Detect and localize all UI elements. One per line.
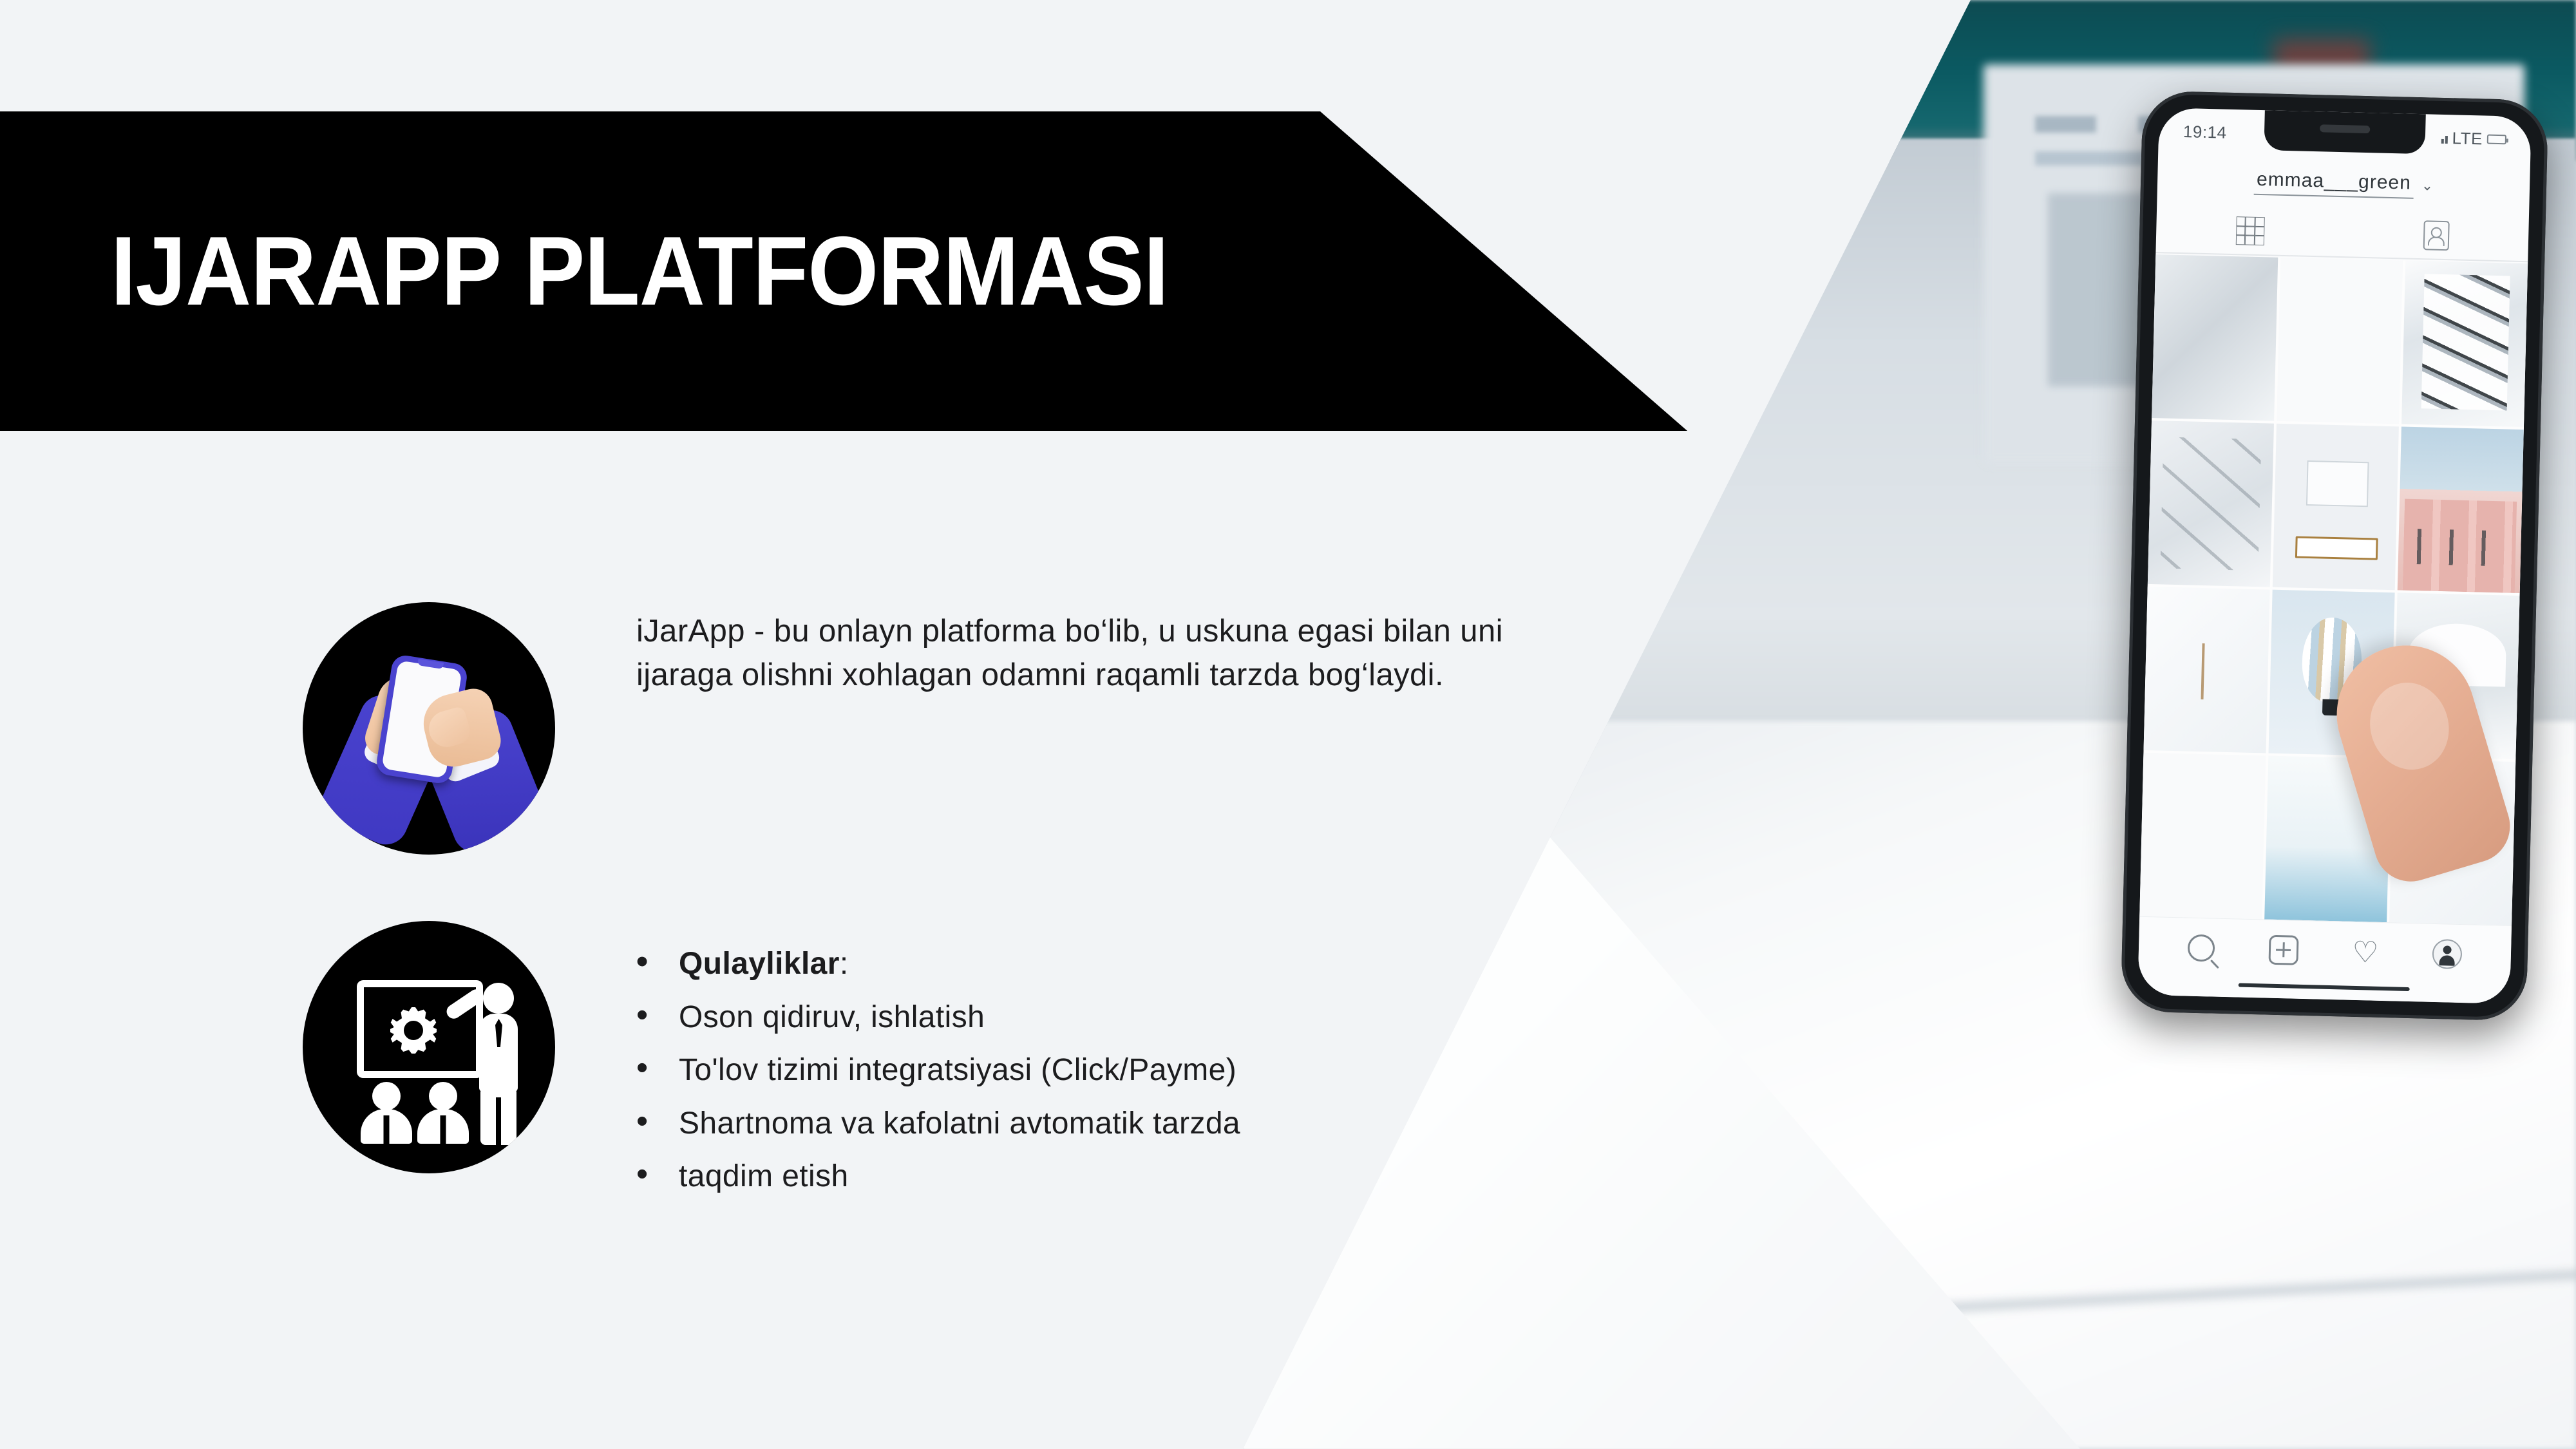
list-item-label: Shartnoma va kafolatni avtomatik tarzda xyxy=(679,1106,1240,1141)
heart-icon[interactable]: ♡ xyxy=(2352,936,2379,967)
list-item: To'lov tizimi integratsiyasi (Click/Paym… xyxy=(636,1052,1240,1090)
grid-photo[interactable] xyxy=(2277,258,2403,424)
list-item-label: To'lov tizimi integratsiyasi (Click/Paym… xyxy=(679,1053,1236,1087)
presentation-training-icon xyxy=(303,921,555,1173)
presenter-legs xyxy=(480,1090,516,1145)
list-item: taqdim etish xyxy=(636,1158,1240,1196)
phone-speaker xyxy=(2320,124,2370,133)
audience-head xyxy=(429,1082,457,1110)
benefits-block: Qulayliklar:Oson qidiruv, ishlatishTo'lo… xyxy=(303,921,1240,1211)
page-title: IJARAPP PLATFORMASI xyxy=(111,215,1168,328)
tagged-photos-icon[interactable] xyxy=(2423,220,2449,251)
grid-photo[interactable] xyxy=(2398,426,2524,593)
list-item-label: Oson qidiruv, ishlatish xyxy=(679,1000,985,1034)
audience-head xyxy=(372,1082,401,1110)
phone-illustration-notch xyxy=(417,659,444,669)
intro-paragraph: iJarApp - bu onlayn platforma bo‘lib, u … xyxy=(636,610,1602,697)
list-item: Qulayliklar: xyxy=(636,945,1240,983)
smartphone: 19:14 LTE emmaa___green ⌄ xyxy=(2121,91,2549,1021)
list-item: Shartnoma va kafolatni avtomatik tarzda xyxy=(636,1105,1240,1143)
status-time: 19:14 xyxy=(2183,122,2227,143)
intro-text-column: iJarApp - bu onlayn platforma bo‘lib, u … xyxy=(636,602,1602,697)
grid-photo[interactable] xyxy=(2401,261,2528,428)
benefits-text-column: Qulayliklar:Oson qidiruv, ishlatishTo'lo… xyxy=(636,921,1240,1211)
phone-bottom-nav: ♡ xyxy=(2137,916,2512,1004)
audience-body xyxy=(417,1109,469,1144)
list-item: Oson qidiruv, ishlatish xyxy=(636,999,1240,1037)
phone-profile-header: emmaa___green ⌄ xyxy=(2157,158,2530,209)
phone-notch xyxy=(2264,110,2425,154)
search-icon[interactable] xyxy=(2187,934,2215,961)
grid-photo[interactable] xyxy=(2139,753,2266,920)
grid-view-icon[interactable] xyxy=(2235,216,2264,245)
list-item-label: Qulayliklar xyxy=(679,947,840,981)
chevron-down-icon[interactable]: ⌄ xyxy=(2421,177,2433,194)
add-post-icon[interactable] xyxy=(2268,934,2298,965)
signal-icon xyxy=(2441,132,2447,144)
grid-photo[interactable] xyxy=(2273,424,2399,591)
presenter-head xyxy=(483,983,514,1014)
list-item-suffix: : xyxy=(840,947,849,981)
grid-photo[interactable] xyxy=(2152,254,2278,421)
grid-photo[interactable] xyxy=(2144,587,2270,753)
grid-photo[interactable] xyxy=(2148,421,2274,587)
profile-avatar-icon[interactable] xyxy=(2432,938,2463,969)
blurred-nav-links-secondary xyxy=(2035,151,2145,166)
phone-screen: 19:14 LTE emmaa___green ⌄ xyxy=(2137,108,2531,1004)
audience-body xyxy=(361,1109,412,1144)
hand-holding-phone-icon xyxy=(303,602,555,855)
benefits-list: Qulayliklar:Oson qidiruv, ishlatishTo'lo… xyxy=(636,929,1240,1196)
intro-block: iJarApp - bu onlayn platforma bo‘lib, u … xyxy=(303,602,1602,855)
title-banner: IJARAPP PLATFORMASI xyxy=(0,111,1687,431)
network-label: LTE xyxy=(2452,128,2483,149)
profile-username[interactable]: emmaa___green xyxy=(2254,168,2414,198)
battery-icon xyxy=(2487,134,2506,144)
status-right-group: LTE xyxy=(2441,128,2506,149)
phone-tab-row xyxy=(2155,205,2529,262)
list-item-label: taqdim etish xyxy=(679,1159,849,1193)
